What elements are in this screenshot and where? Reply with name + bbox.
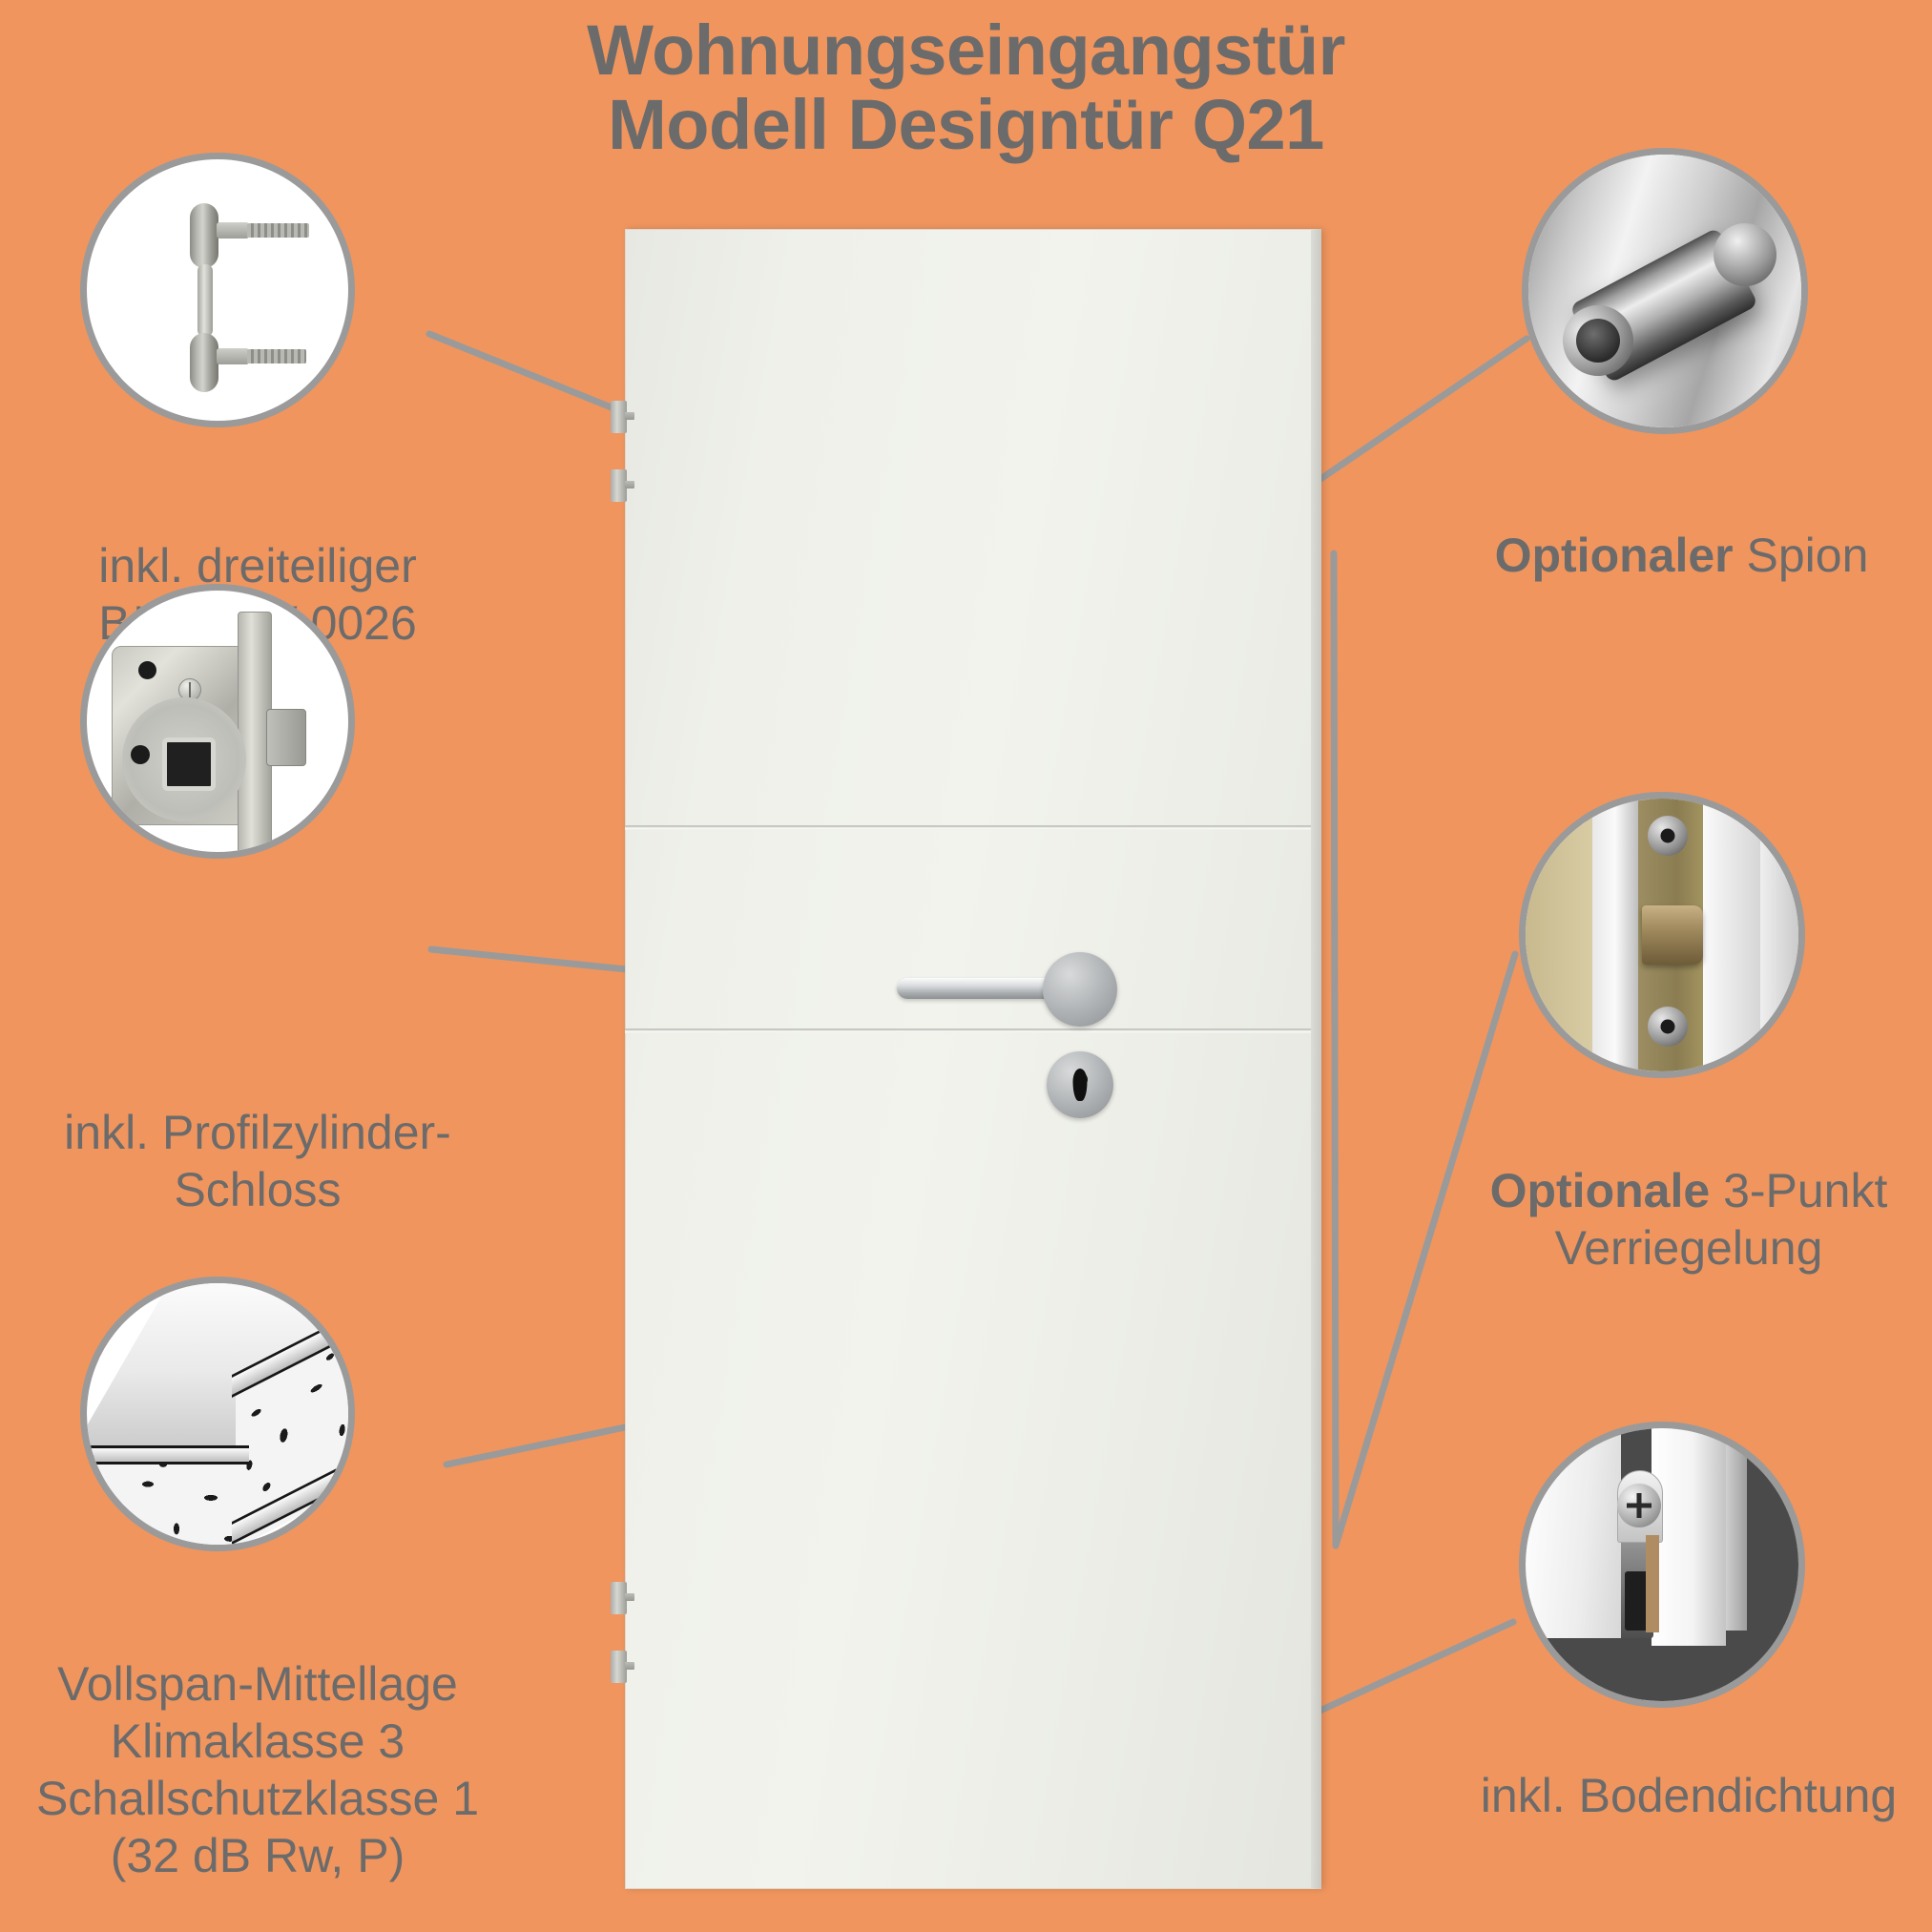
- label-multipoint-rest: 3-Punkt: [1710, 1164, 1887, 1217]
- door-groove-upper: [625, 825, 1311, 830]
- door-illustration: [625, 229, 1321, 1889]
- infographic-canvas: Wohnungseingangstür Modell Designtür Q21: [0, 0, 1932, 1932]
- mortise-lock-icon: [87, 591, 348, 852]
- connector-multipoint-riser: [1334, 553, 1336, 1546]
- multipoint-lock-icon: [1526, 799, 1798, 1071]
- label-core-line-1: Vollspan-Mittellage: [10, 1655, 506, 1713]
- door-hinge-top: [611, 401, 627, 433]
- peephole-icon: [1528, 155, 1801, 427]
- label-lock: inkl. Profilzylinder- Schloss: [19, 1104, 496, 1218]
- label-lock-line-1: inkl. Profilzylinder-: [19, 1104, 496, 1161]
- label-peephole-bold: Optionaler: [1495, 529, 1734, 582]
- label-core-line-4: (32 dB Rw, P): [10, 1827, 506, 1884]
- callout-circle-core: [80, 1277, 355, 1551]
- label-peephole-rest: Spion: [1734, 529, 1869, 582]
- door-core-cross-section-icon: [87, 1283, 348, 1545]
- connector-hinges: [429, 334, 618, 410]
- label-core-line-3: Schallschutzklasse 1: [10, 1770, 506, 1827]
- handle-rosette: [1043, 952, 1117, 1027]
- page-title: Wohnungseingangstür Modell Designtür Q21: [0, 13, 1932, 163]
- keyhole-escutcheon: [1047, 1051, 1113, 1118]
- door-hinge-icon: [87, 159, 348, 421]
- label-multipoint: Optionale 3-Punkt Verriegelung: [1445, 1162, 1932, 1277]
- label-multipoint-bold: Optionale: [1490, 1164, 1711, 1217]
- label-bottom-seal-line-1: inkl. Bodendichtung: [1445, 1767, 1932, 1824]
- label-lock-line-2: Schloss: [19, 1161, 496, 1218]
- bottom-seal-icon: [1526, 1428, 1798, 1701]
- door-hinge-lower: [611, 1582, 627, 1614]
- label-multipoint-line-2: Verriegelung: [1445, 1219, 1932, 1277]
- label-bottom-seal: inkl. Bodendichtung: [1445, 1767, 1932, 1824]
- title-line-1: Wohnungseingangstür: [0, 13, 1932, 88]
- profile-cylinder-keyhole: [1073, 1069, 1088, 1101]
- door-groove-lower: [625, 1028, 1311, 1033]
- callout-circle-peephole: [1522, 148, 1808, 434]
- label-core: Vollspan-Mittellage Klimaklasse 3 Schall…: [10, 1655, 506, 1884]
- callout-circle-hinges: [80, 153, 355, 427]
- callout-circle-bottom-seal: [1519, 1422, 1805, 1708]
- callout-circle-lock: [80, 584, 355, 859]
- label-peephole: Optionaler Spion: [1431, 527, 1932, 584]
- door-hinge-upper: [611, 469, 627, 502]
- door-leaf: [625, 229, 1321, 1889]
- label-hinges-line-1: inkl. dreiteiliger: [19, 537, 496, 594]
- door-hinge-bottom: [611, 1651, 627, 1683]
- label-core-line-2: Klimaklasse 3: [10, 1713, 506, 1770]
- callout-circle-multipoint: [1519, 792, 1805, 1078]
